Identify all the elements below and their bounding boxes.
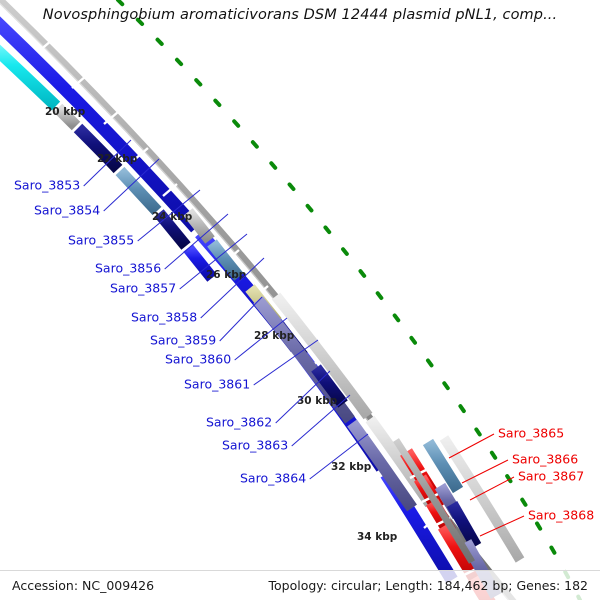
ruler-tick-label: 26 kbp	[206, 269, 247, 281]
ruler-tick-label: 20 kbp	[45, 106, 86, 118]
genome-map-viewport[interactable]: 20 kbp22 kbp24 kbp26 kbp28 kbp30 kbp32 k…	[0, 0, 600, 600]
gene-label-saro_3864[interactable]: Saro_3864	[240, 471, 306, 486]
gene-label-saro_3854[interactable]: Saro_3854	[34, 203, 100, 218]
gene-label-saro_3868[interactable]: Saro_3868	[528, 508, 594, 523]
forward-gene-labels[interactable]: Saro_3853Saro_3854Saro_3855Saro_3856Saro…	[14, 140, 368, 486]
gene-label-saro_3860[interactable]: Saro_3860	[165, 352, 231, 367]
gene-label-saro_3865[interactable]: Saro_3865	[498, 426, 564, 441]
gene-label-saro_3857[interactable]: Saro_3857	[110, 281, 176, 296]
gene-leader-line	[449, 434, 494, 458]
gene-label-saro_3866[interactable]: Saro_3866	[512, 452, 578, 467]
forward-strand-gene-ring[interactable]	[0, 12, 452, 580]
gene-label-saro_3863[interactable]: Saro_3863	[222, 438, 288, 453]
gene-label-saro_3859[interactable]: Saro_3859	[150, 333, 216, 348]
accession-label: Accession: NC_009426	[12, 578, 154, 593]
gc-marker-track	[118, 0, 580, 600]
gene-label-saro_3858[interactable]: Saro_3858	[131, 310, 197, 325]
gene-label-saro_3853[interactable]: Saro_3853	[14, 178, 80, 193]
ruler-tick-label: 22 kbp	[97, 153, 138, 165]
gene-label-saro_3862[interactable]: Saro_3862	[206, 415, 272, 430]
ruler-tick-label: 32 kbp	[331, 461, 372, 473]
ruler-tick-label: 34 kbp	[357, 531, 398, 543]
gene-label-saro_3856[interactable]: Saro_3856	[95, 261, 161, 276]
status-bar: Accession: NC_009426 Topology: circular;…	[0, 570, 600, 600]
gene-label-saro_3861[interactable]: Saro_3861	[184, 377, 250, 392]
sequence-summary-label: Topology: circular; Length: 184,462 bp; …	[269, 578, 589, 593]
gene-label-saro_3867[interactable]: Saro_3867	[518, 469, 584, 484]
circular-genome-map[interactable]: 20 kbp22 kbp24 kbp26 kbp28 kbp30 kbp32 k…	[0, 0, 600, 600]
gene-label-saro_3855[interactable]: Saro_3855	[68, 233, 134, 248]
